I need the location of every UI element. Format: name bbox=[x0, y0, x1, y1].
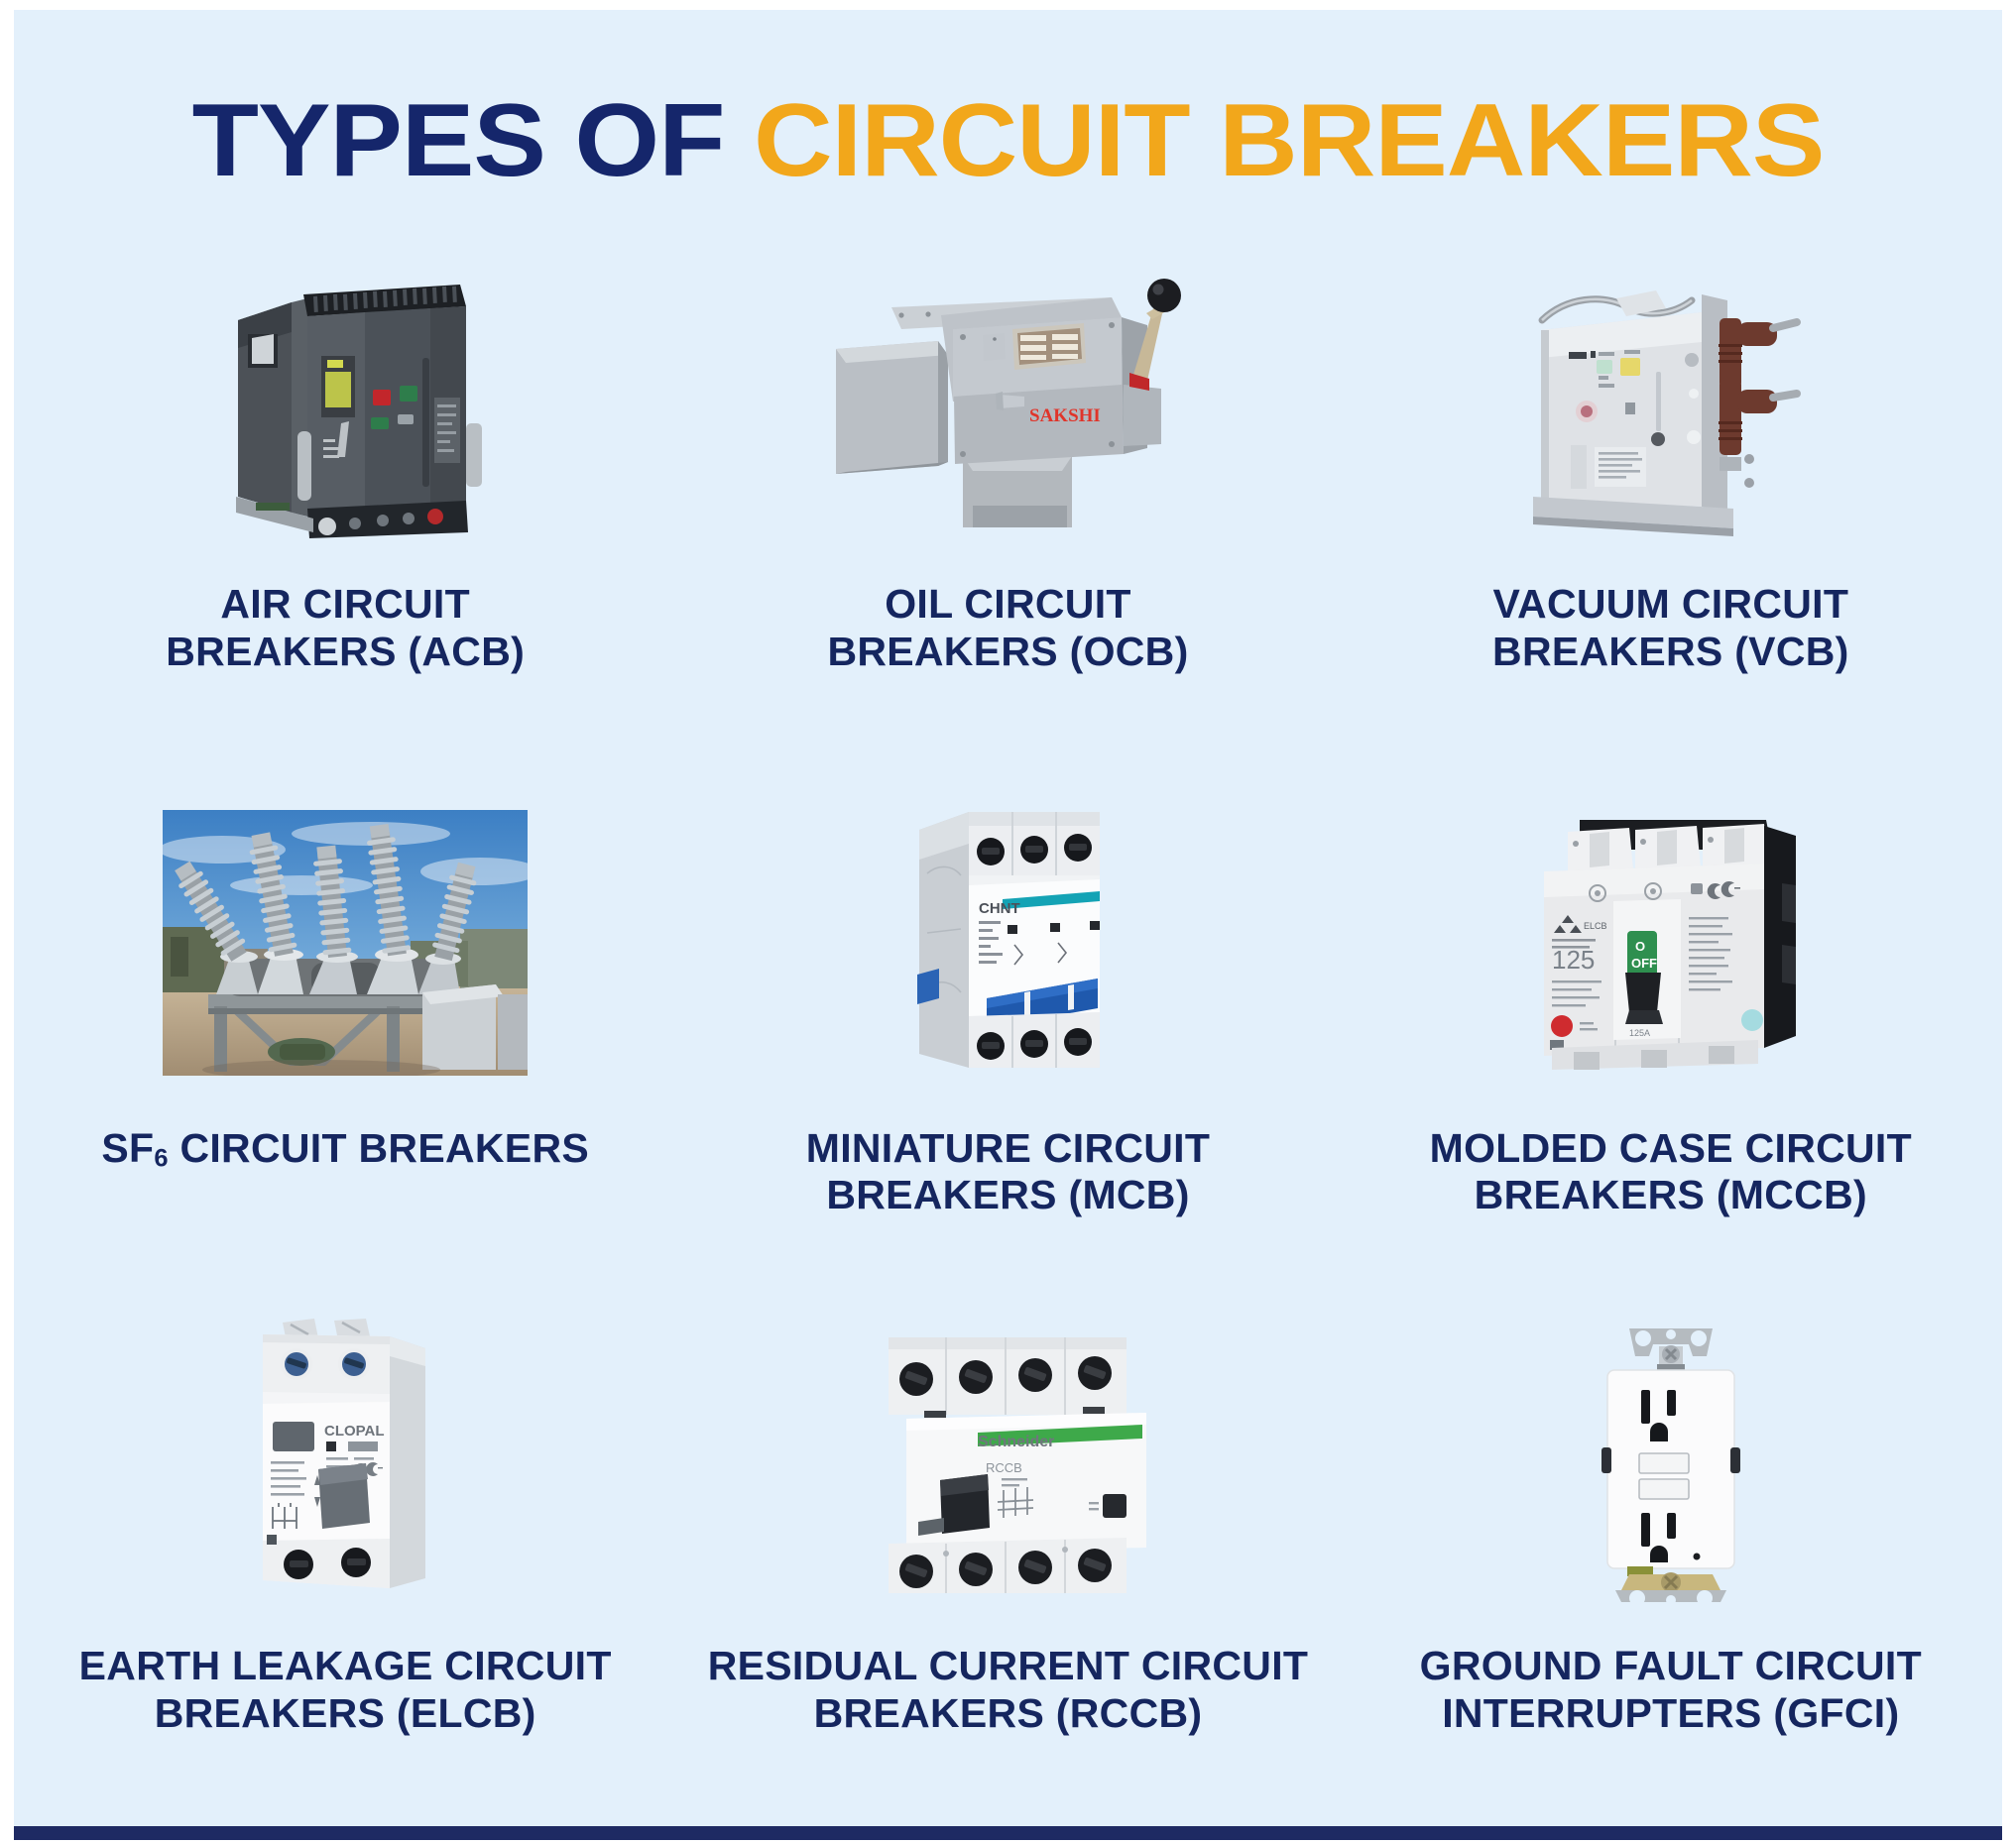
bottom-accent-bar bbox=[14, 1826, 2002, 1840]
mcb-figure: CHNT bbox=[676, 794, 1339, 1092]
acb-caption-line1: AIR CIRCUIT bbox=[166, 581, 525, 629]
elcb-figure: CLOPAL bbox=[14, 1314, 676, 1611]
mcb-brand-label: CHNT bbox=[979, 900, 1020, 917]
elcb-brand-label: CLOPAL bbox=[324, 1423, 385, 1440]
gfci-caption-line2: INTERRUPTERS (GFCI) bbox=[1420, 1690, 1922, 1738]
earth-leakage-circuit-breaker-photo: CLOPAL bbox=[231, 1319, 459, 1606]
mccb-caption-line1: MOLDED CASE CIRCUIT bbox=[1430, 1125, 1912, 1173]
svg-text:ELCB: ELCB bbox=[1584, 921, 1607, 931]
title-part-navy: TYPES OF bbox=[192, 83, 725, 198]
grid-item-mcb: CHNT bbox=[676, 768, 1339, 1291]
grid-item-ocb: SAKSHI bbox=[676, 246, 1339, 768]
rccb-brand-label: Schneider bbox=[978, 1434, 1054, 1450]
oil-circuit-breaker-photo: SAKSHI bbox=[814, 268, 1201, 545]
ocb-caption-line2: BREAKERS (OCB) bbox=[827, 629, 1188, 676]
grid-item-gfci: GROUND FAULT CIRCUIT INTERRUPTERS (GFCI) bbox=[1340, 1290, 2002, 1812]
vcb-caption-line1: VACUUM CIRCUIT bbox=[1492, 581, 1849, 629]
gfci-figure bbox=[1340, 1314, 2002, 1611]
vacuum-circuit-breaker-photo bbox=[1507, 273, 1835, 540]
title-part-gold: CIRCUIT BREAKERS bbox=[754, 83, 1824, 198]
grid-item-vcb: VACUUM CIRCUIT BREAKERS (VCB) bbox=[1340, 246, 2002, 768]
ocb-caption-line1: OIL CIRCUIT bbox=[827, 581, 1188, 629]
sf6-circuit-breaker-photo bbox=[163, 810, 528, 1076]
acb-caption-line2: BREAKERS (ACB) bbox=[166, 629, 525, 676]
mccb-rating-label: 125 bbox=[1552, 945, 1595, 975]
breaker-type-grid: AIR CIRCUIT BREAKERS (ACB) bbox=[14, 246, 2002, 1812]
rccb-caption-line2: BREAKERS (RCCB) bbox=[708, 1690, 1309, 1738]
vcb-caption-line2: BREAKERS (VCB) bbox=[1492, 629, 1849, 676]
elcb-caption: EARTH LEAKAGE CIRCUIT BREAKERS (ELCB) bbox=[79, 1643, 612, 1737]
acb-figure bbox=[14, 258, 676, 555]
elcb-caption-line1: EARTH LEAKAGE CIRCUIT bbox=[79, 1643, 612, 1690]
mcb-caption-line1: MINIATURE CIRCUIT bbox=[806, 1125, 1210, 1173]
gfci-caption-line1: GROUND FAULT CIRCUIT bbox=[1420, 1643, 1922, 1690]
sf6-caption: SF6 CIRCUIT BREAKERS bbox=[101, 1125, 589, 1174]
grid-item-rccb: Schneider RCCB bbox=[676, 1290, 1339, 1812]
gfci-caption: GROUND FAULT CIRCUIT INTERRUPTERS (GFCI) bbox=[1420, 1643, 1922, 1737]
rccb-caption: RESIDUAL CURRENT CIRCUIT BREAKERS (RCCB) bbox=[708, 1643, 1309, 1737]
gfci-reset-button bbox=[1639, 1453, 1689, 1473]
mccb-toggle-state-off: OFF bbox=[1631, 956, 1657, 971]
svg-text:RCCB: RCCB bbox=[986, 1460, 1022, 1475]
ocb-caption: OIL CIRCUIT BREAKERS (OCB) bbox=[827, 581, 1188, 675]
sf6-caption-line1: SF6 CIRCUIT BREAKERS bbox=[101, 1125, 589, 1174]
ocb-figure: SAKSHI bbox=[676, 258, 1339, 555]
grid-item-mccb: ELCB 125 bbox=[1340, 768, 2002, 1291]
page-title: TYPES OF CIRCUIT BREAKERS bbox=[14, 87, 2002, 195]
sf6-figure bbox=[14, 794, 676, 1092]
molded-case-circuit-breaker-photo: ELCB 125 bbox=[1522, 814, 1820, 1072]
grid-item-sf6: SF6 CIRCUIT BREAKERS bbox=[14, 768, 676, 1291]
grid-item-acb: AIR CIRCUIT BREAKERS (ACB) bbox=[14, 246, 676, 768]
grid-item-elcb: CLOPAL bbox=[14, 1290, 676, 1812]
infographic-poster: TYPES OF CIRCUIT BREAKERS bbox=[0, 0, 2016, 1844]
vcb-caption: VACUUM CIRCUIT BREAKERS (VCB) bbox=[1492, 581, 1849, 675]
rccb-caption-line1: RESIDUAL CURRENT CIRCUIT bbox=[708, 1643, 1309, 1690]
vcb-figure bbox=[1340, 258, 2002, 555]
elcb-caption-line2: BREAKERS (ELCB) bbox=[79, 1690, 612, 1738]
air-circuit-breaker-photo bbox=[196, 273, 494, 540]
gfci-receptacle-photo bbox=[1572, 1319, 1770, 1606]
mcb-caption-line2: BREAKERS (MCB) bbox=[806, 1172, 1210, 1219]
mccb-figure: ELCB 125 bbox=[1340, 794, 2002, 1092]
mccb-caption: MOLDED CASE CIRCUIT BREAKERS (MCCB) bbox=[1430, 1125, 1912, 1219]
gfci-test-button bbox=[1639, 1479, 1689, 1499]
svg-text:125A: 125A bbox=[1629, 1028, 1650, 1038]
rccb-figure: Schneider RCCB bbox=[676, 1314, 1339, 1611]
mcb-caption: MINIATURE CIRCUIT BREAKERS (MCB) bbox=[806, 1125, 1210, 1219]
mccb-caption-line2: BREAKERS (MCCB) bbox=[1430, 1172, 1912, 1219]
mccb-toggle-state-o: O bbox=[1635, 939, 1645, 954]
acb-caption: AIR CIRCUIT BREAKERS (ACB) bbox=[166, 581, 525, 675]
poster-canvas: TYPES OF CIRCUIT BREAKERS bbox=[14, 10, 2002, 1830]
miniature-circuit-breaker-photo: CHNT bbox=[884, 804, 1131, 1082]
residual-current-circuit-breaker-photo: Schneider RCCB bbox=[859, 1324, 1156, 1601]
ocb-brand-label: SAKSHI bbox=[1029, 405, 1101, 426]
